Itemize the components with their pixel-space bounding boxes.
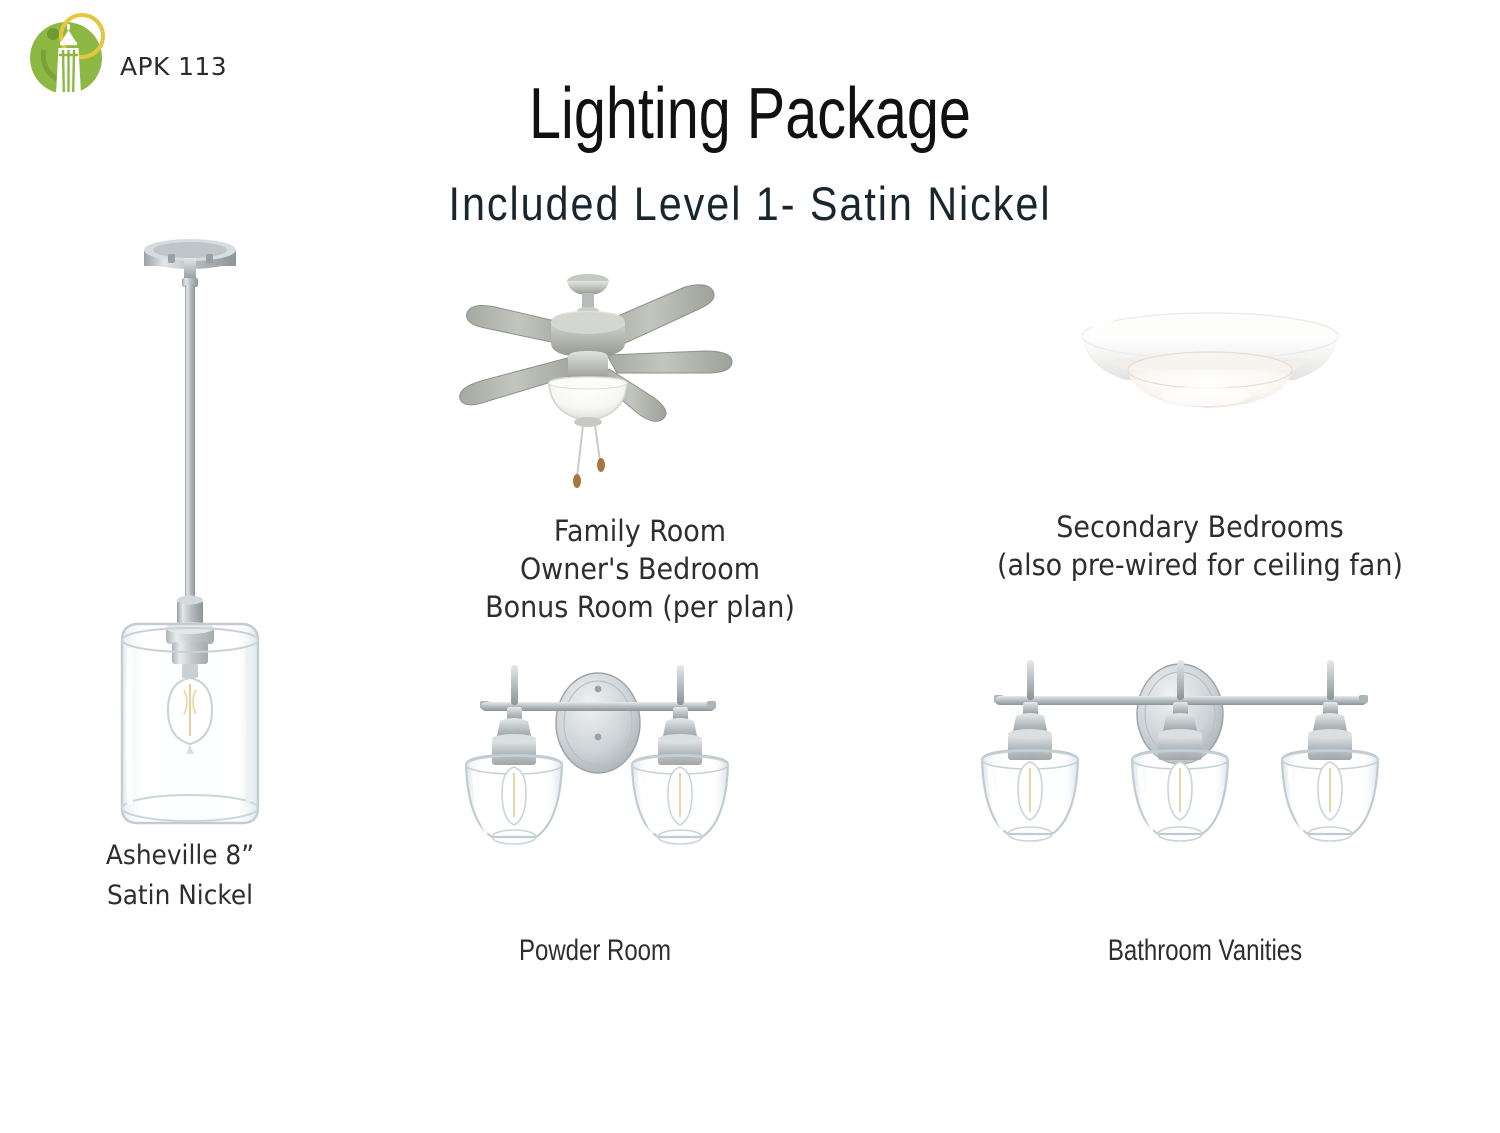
flush-caption-line-1: Secondary Bedrooms: [958, 508, 1442, 546]
flush-caption-line-2: (also pre-wired for ceiling fan): [958, 546, 1442, 584]
flush-mount-caption: Secondary Bedrooms (also pre-wired for c…: [958, 508, 1442, 584]
bathroom-vanities-caption: Bathroom Vanities: [1041, 932, 1369, 970]
flush-mount-disk-icon: [1055, 300, 1365, 435]
vanity-2-light-icon: [448, 645, 748, 895]
vanity-3-light-icon: [965, 638, 1395, 893]
fan-caption-line-3: Bonus Room (per plan): [342, 588, 937, 626]
ceiling-fan-caption: Family Room Owner's Bedroom Bonus Room (…: [342, 512, 937, 626]
vanity-caption-line-1: Bathroom Vanities: [1041, 932, 1369, 970]
pendant-caption: Asheville 8” Satin Nickel: [14, 836, 345, 916]
pendant-caption-line-2: Satin Nickel: [14, 876, 345, 916]
brand-code-label: APK 113: [120, 52, 227, 81]
page-subtitle: Included Level 1- Satin Nickel: [90, 180, 1410, 227]
powder-room-caption: Powder Room: [439, 932, 751, 970]
fan-caption-line-1: Family Room: [342, 512, 937, 550]
powder-caption-line-1: Powder Room: [439, 932, 751, 970]
fan-caption-line-2: Owner's Bedroom: [342, 550, 937, 588]
page-title: Lighting Package: [150, 78, 1350, 150]
ceiling-fan-icon: [385, 265, 815, 495]
pendant-caption-line-1: Asheville 8”: [14, 836, 345, 876]
lantern-logo-icon: [22, 8, 114, 100]
pendant-light-icon: [60, 228, 320, 828]
slide-canvas: APK 113 Lighting Package Included Level …: [0, 0, 1500, 1133]
